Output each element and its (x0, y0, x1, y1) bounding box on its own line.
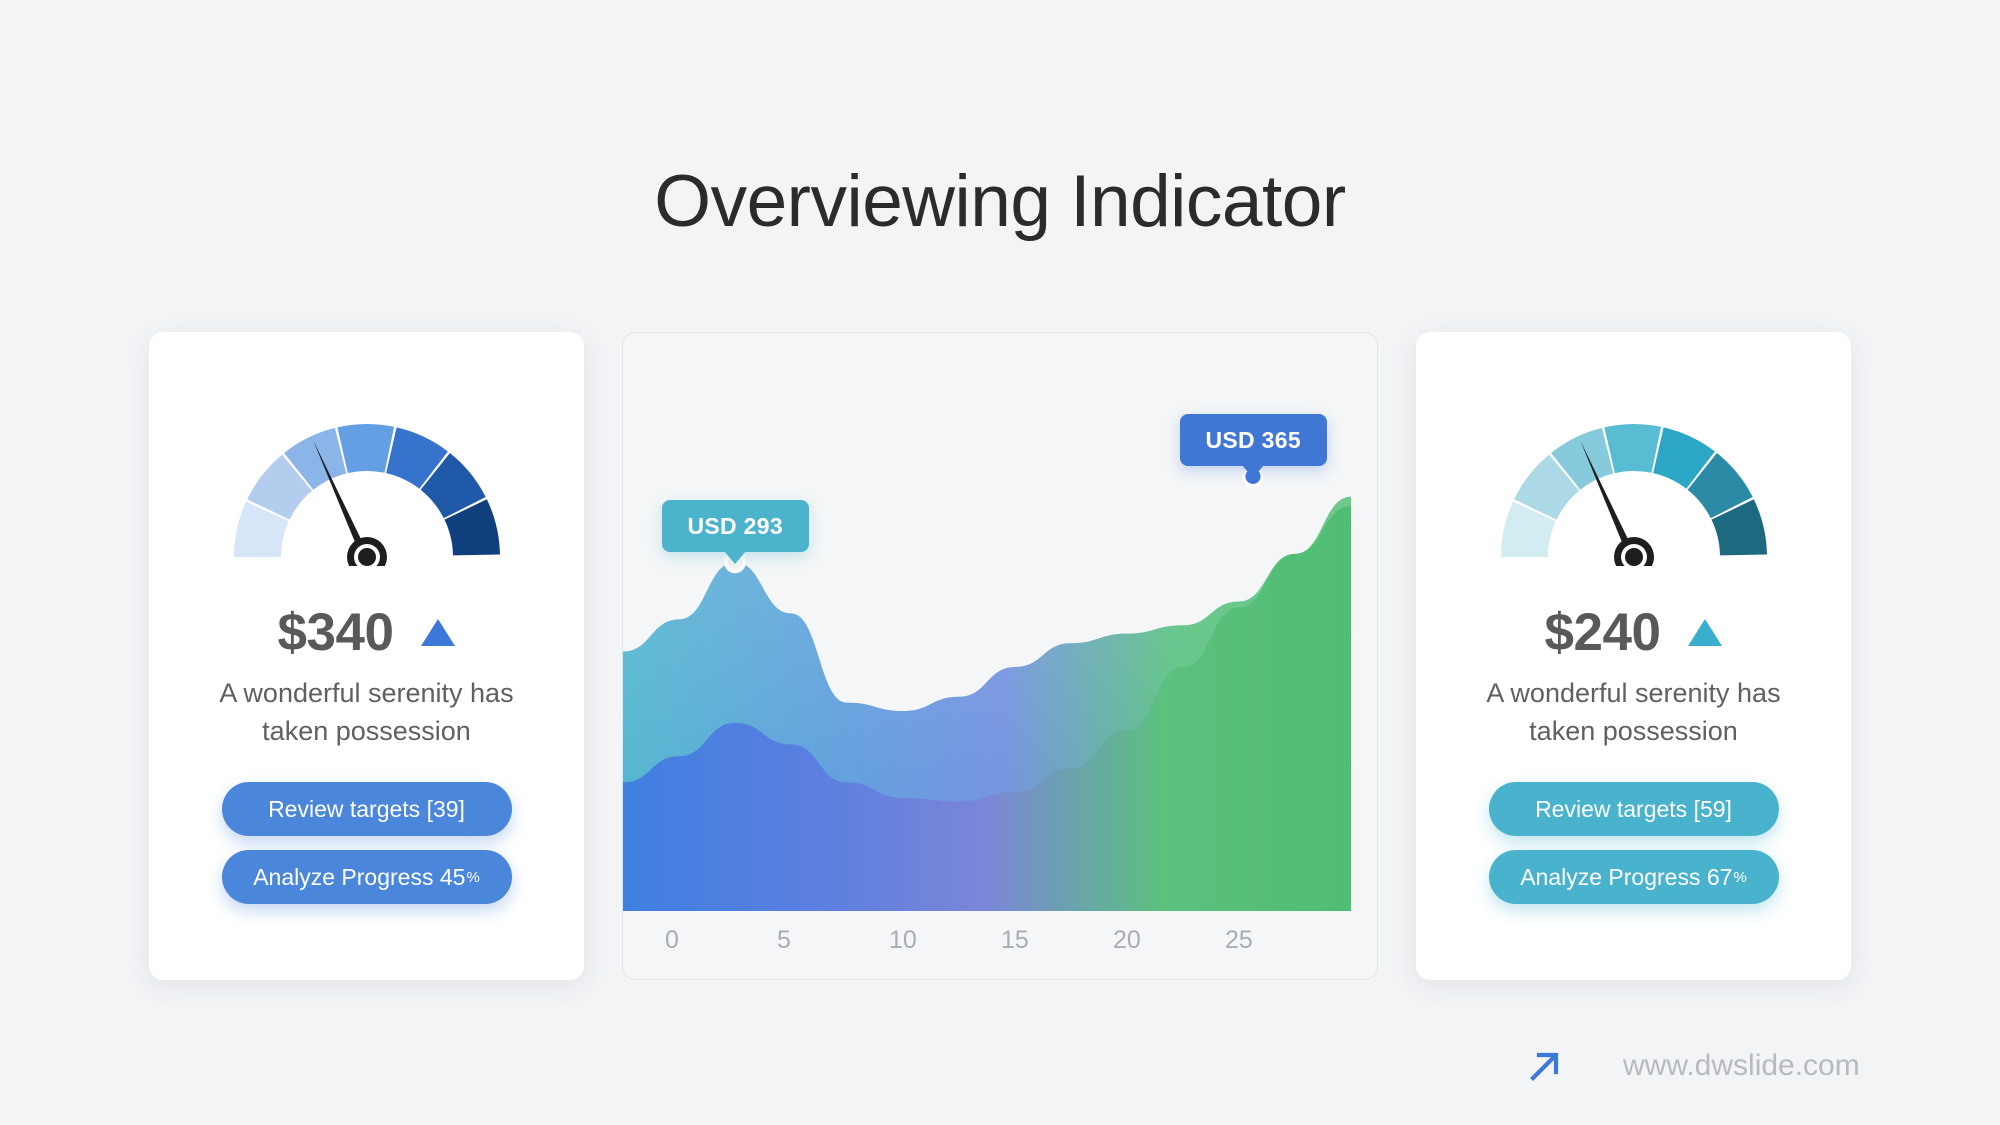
review-targets-button[interactable]: Review targets [59] (1489, 782, 1779, 836)
kpi-value: $240 (1545, 602, 1661, 663)
gauge-right (1469, 384, 1799, 566)
arrow-up-right-icon (1525, 1046, 1565, 1086)
gauge-dial-icon (202, 384, 532, 566)
kpi-value: $340 (278, 602, 394, 663)
chart-tooltip-b[interactable]: USD 365 (1180, 414, 1327, 466)
x-axis-tick: 0 (665, 926, 777, 955)
percent-suffix: % (466, 869, 479, 886)
gauge-segment (337, 424, 394, 473)
analyze-progress-button[interactable]: Analyze Progress 45% (222, 850, 512, 904)
x-axis-tick: 25 (1225, 926, 1337, 955)
kpi-card-right: $240 A wonderful serenity has taken poss… (1416, 332, 1851, 980)
footer: www.dwslide.com (1525, 1046, 1860, 1086)
kpi-value-row: $340 (149, 602, 584, 663)
triangle-up-icon (1688, 619, 1722, 646)
analyze-progress-button[interactable]: Analyze Progress 67% (1489, 850, 1779, 904)
slide-root: Overviewing Indicator $340 A wonderful s… (0, 0, 2000, 1125)
chart-tooltip-a[interactable]: USD 293 (662, 500, 809, 552)
review-targets-label: Review targets [59] (1535, 796, 1732, 823)
page-title: Overviewing Indicator (0, 160, 2000, 243)
chart-tooltip-b-label: USD 365 (1206, 427, 1301, 454)
x-axis-tick: 20 (1113, 926, 1225, 955)
percent-suffix: % (1733, 869, 1746, 886)
x-axis-tick: 10 (889, 926, 1001, 955)
triangle-up-icon (421, 619, 455, 646)
kpi-value-row: $240 (1416, 602, 1851, 663)
gauge-dial-icon (1469, 384, 1799, 566)
chart-x-axis: 0510152025 (623, 926, 1378, 955)
review-targets-label: Review targets [39] (268, 796, 465, 823)
chart-card: USD 293 USD 365 0510152025 (622, 332, 1378, 980)
x-axis-tick: 5 (777, 926, 889, 955)
kpi-description: A wonderful serenity has taken possessio… (1469, 674, 1799, 751)
kpi-card-left: $340 A wonderful serenity has taken poss… (149, 332, 584, 980)
analyze-progress-label: Analyze Progress 67 (1520, 864, 1732, 891)
chart-tooltip-a-label: USD 293 (688, 513, 783, 540)
gauge-left (202, 384, 532, 566)
kpi-description: A wonderful serenity has taken possessio… (202, 674, 532, 751)
review-targets-button[interactable]: Review targets [39] (222, 782, 512, 836)
gauge-segment (1604, 424, 1661, 473)
footer-url: www.dwslide.com (1623, 1049, 1860, 1083)
x-axis-tick: 15 (1001, 926, 1113, 955)
analyze-progress-label: Analyze Progress 45 (253, 864, 465, 891)
